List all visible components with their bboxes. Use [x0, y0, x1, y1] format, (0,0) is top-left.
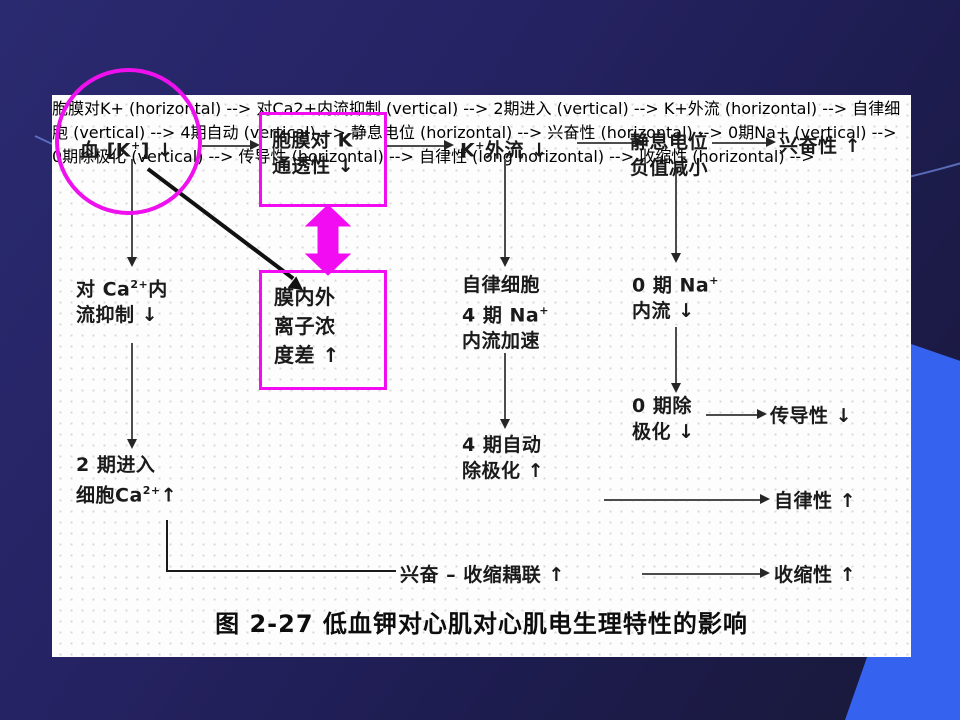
- node-conductivity: 传导性 ↓: [770, 403, 852, 429]
- connector-membrane-to-kefflux: [386, 145, 448, 147]
- arrowhead-nainflux-to-phase4: [500, 419, 510, 429]
- connector-kefflux-to-autocell: [504, 159, 506, 259]
- arrowhead-resting-to-phase0na: [671, 253, 681, 263]
- connector-phase4-to-automaticity: [604, 499, 764, 501]
- figure-panel: 胞膜对K+ (horizontal) --> 对Ca2+内流抑制 (vertic…: [52, 95, 911, 657]
- connector-bloodk-to-membrane: [202, 145, 254, 147]
- arrowhead-kefflux-to-autocell: [500, 257, 510, 267]
- connector-eccoupling-to-contractility: [642, 573, 764, 575]
- connector-depol-to-conductivity: [706, 414, 761, 416]
- figure-caption: 图 2-27 低血钾对心肌对心肌电生理特性的影响: [52, 604, 911, 639]
- arrowhead-depol-to-conductivity: [757, 409, 767, 419]
- arrowhead-eccoupling-to-contractility: [760, 568, 770, 578]
- slide-background: 胞膜对K+ (horizontal) --> 对Ca2+内流抑制 (vertic…: [0, 0, 960, 720]
- node-excitation-contraction-coupling: 兴奋 – 收缩耦联 ↑: [400, 562, 565, 588]
- connector-phase2-to-eccoupling: [166, 570, 396, 572]
- node-phase0-depolarization: 0 期除 极化 ↓: [632, 393, 695, 445]
- connector-resting-to-excitability: [712, 142, 770, 144]
- node-ca-influx-inhibition: 对 Ca2+内 流抑制 ↓: [76, 272, 168, 328]
- node-k-efflux: K+外流 ↓: [460, 133, 548, 163]
- node-resting-potential: 静息电位 负值减小: [630, 129, 708, 181]
- arrowhead-resting-to-excitability: [766, 137, 776, 147]
- connector-phase2-down: [166, 520, 168, 572]
- node-excitability: 兴奋性 ↑: [779, 133, 861, 159]
- box-ion-gradient: 膜内外 离子浓 度差 ↑: [259, 270, 387, 390]
- bidirectional-magenta-arrow: [304, 204, 352, 276]
- node-membrane-permeability: 胞膜对 K+ 通透性 ↓: [272, 123, 363, 179]
- node-phase0-na-influx: 0 期 Na+ 内流 ↓: [632, 268, 719, 324]
- node-ion-gradient: 膜内外 离子浓 度差 ↑: [274, 283, 340, 370]
- node-blood-potassium: 血 [K+] ↓: [80, 133, 173, 163]
- connector-nainflux-to-phase4: [504, 353, 506, 421]
- arrowhead-bloodk-to-ca: [127, 257, 137, 267]
- node-phase4-automatic-depolarization: 4 期自动 除极化 ↑: [462, 432, 544, 484]
- node-autonomic-cell: 自律细胞 4 期 Na+ 内流加速: [462, 272, 549, 354]
- node-phase2-entry: 2 期进入 细胞Ca2+↑: [76, 452, 177, 508]
- connector-phase0na-to-depol: [675, 327, 677, 385]
- arrowhead-membrane-to-kefflux: [444, 140, 454, 150]
- arrowhead-phase4-to-automaticity: [760, 494, 770, 504]
- connector-ca-to-phase2: [131, 343, 133, 441]
- node-automaticity: 自律性 ↑: [774, 488, 856, 514]
- node-contractility: 收缩性 ↑: [774, 562, 856, 588]
- arrowhead-ca-to-phase2: [127, 439, 137, 449]
- box-membrane-permeability: 胞膜对 K+ 通透性 ↓: [259, 112, 387, 207]
- arrowhead-phase0na-to-depol: [671, 383, 681, 393]
